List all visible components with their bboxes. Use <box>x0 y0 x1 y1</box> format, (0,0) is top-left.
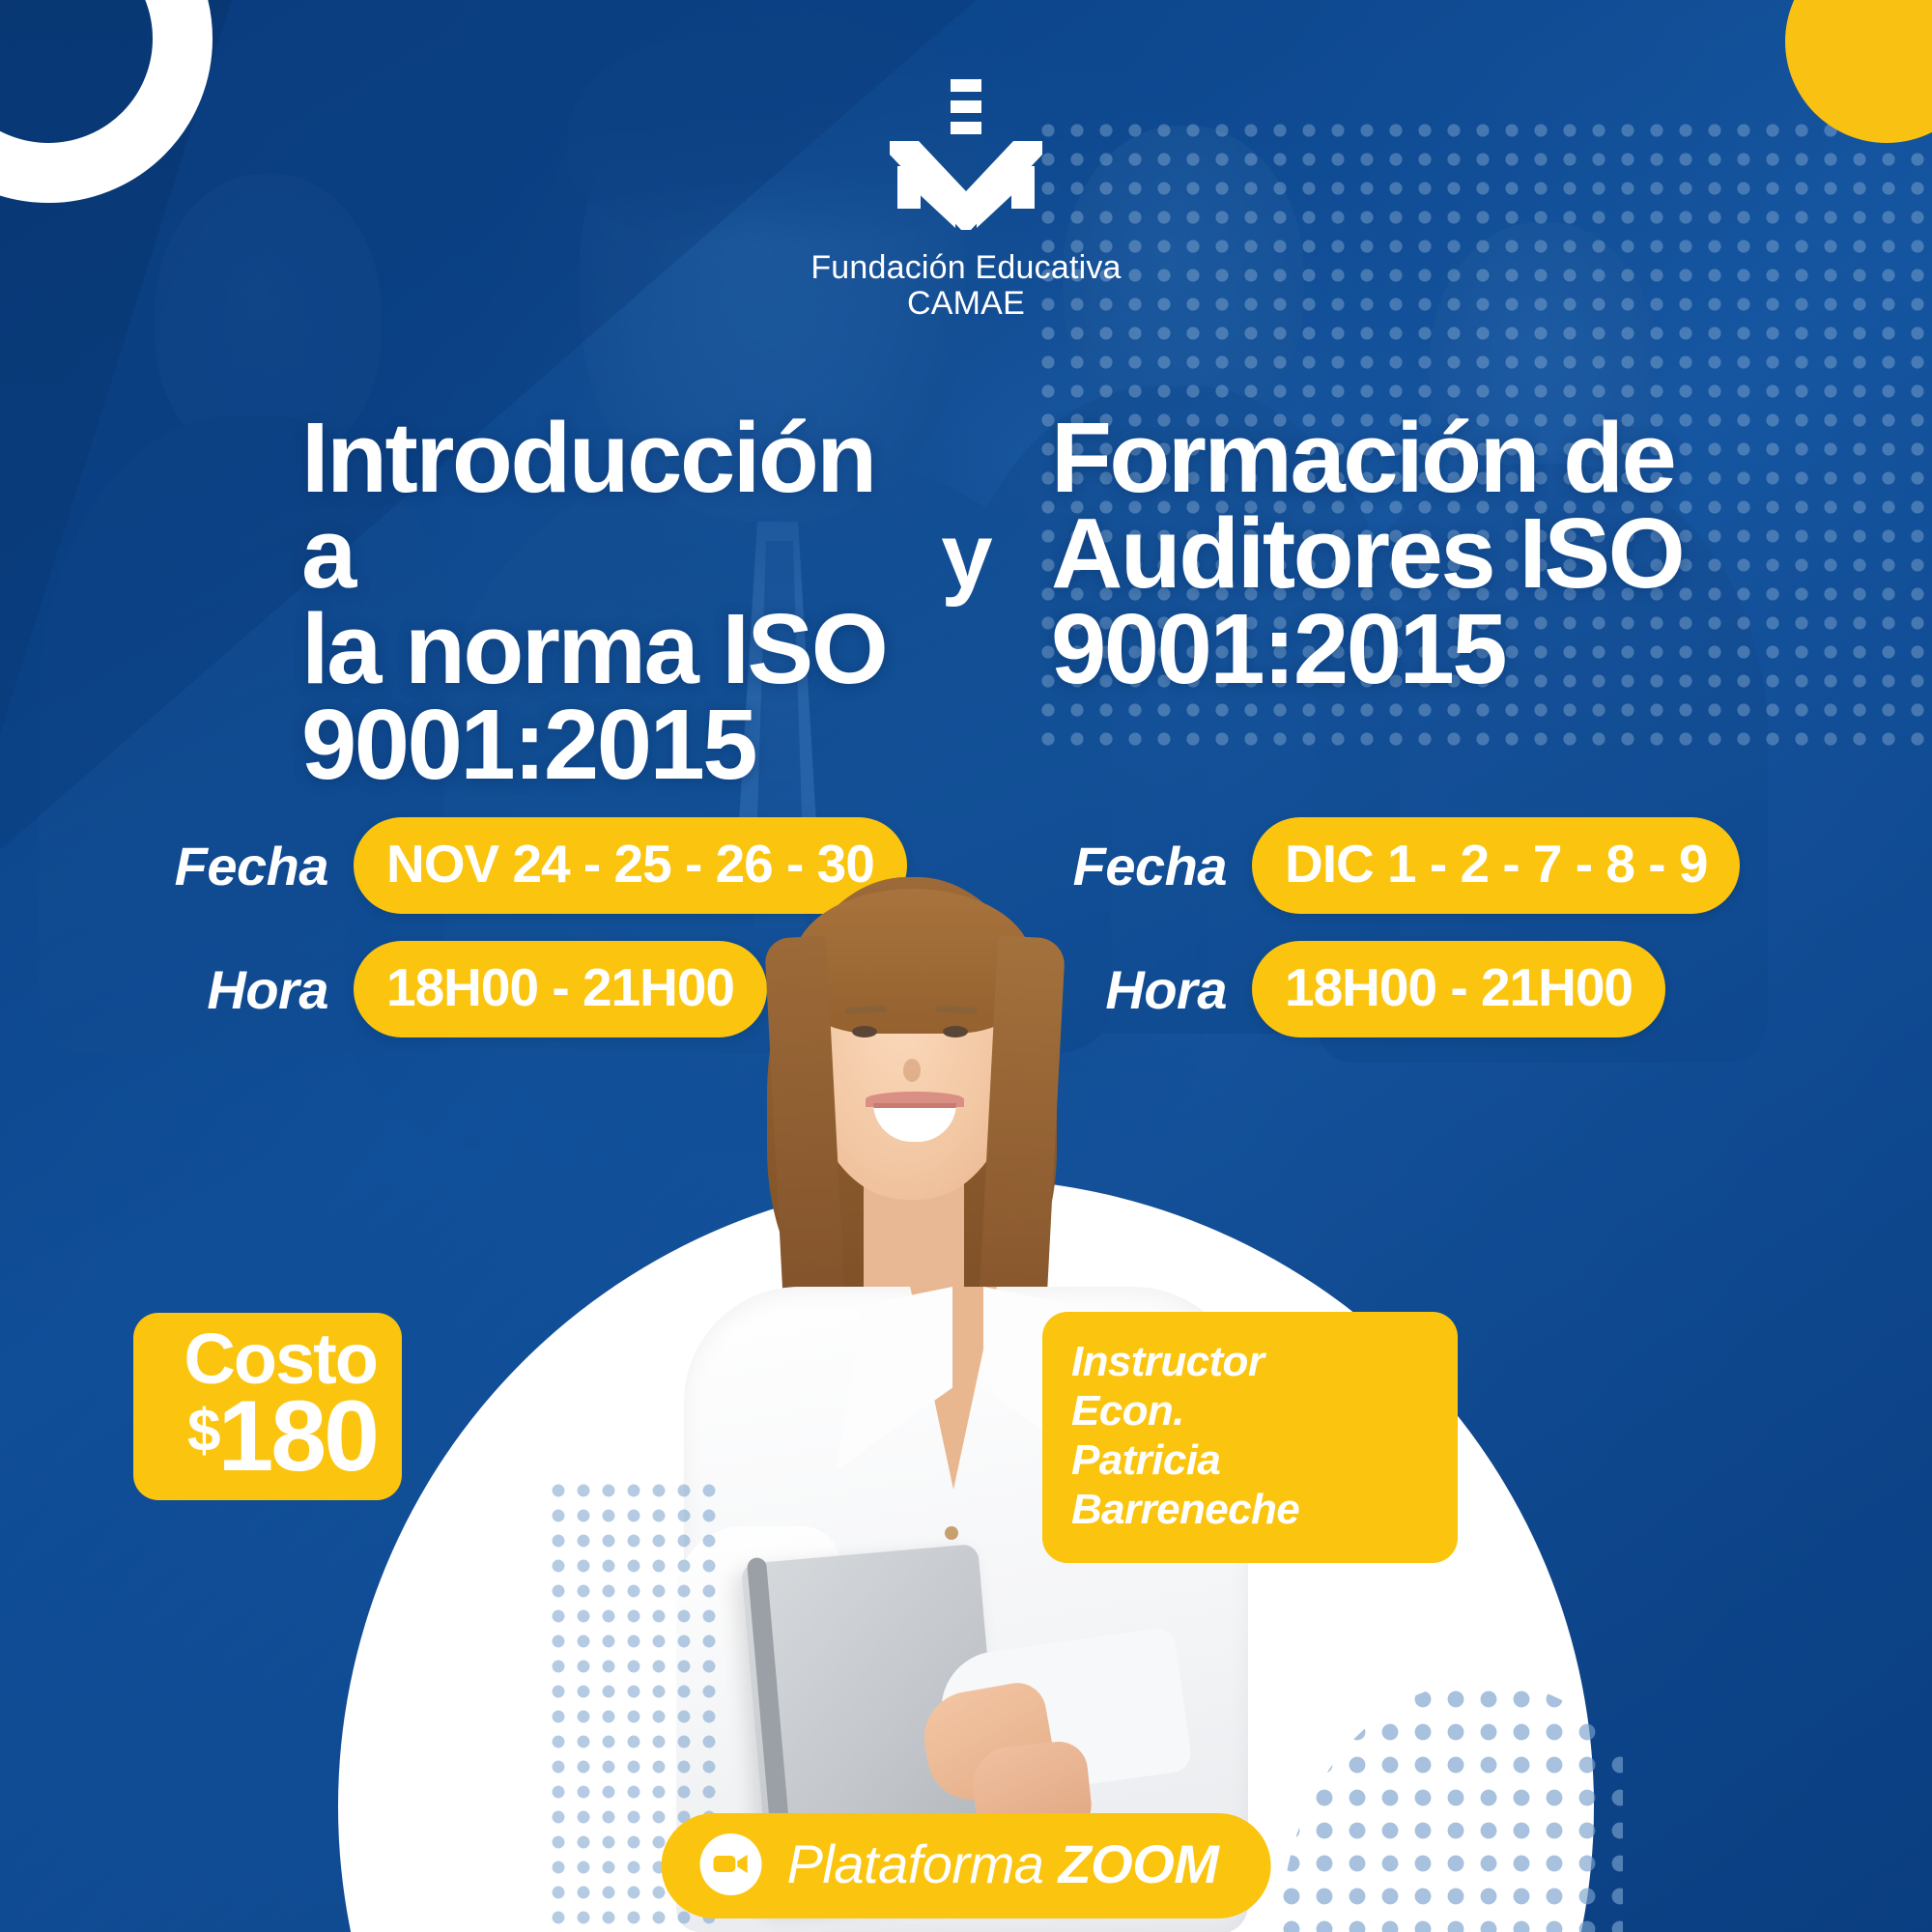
course-column-1: Introducción a la norma ISO 9001:2015 <box>156 411 920 793</box>
course-1-time-label: Hora <box>145 958 328 1021</box>
instructor-title: Econ. <box>1071 1386 1429 1435</box>
course-2-date-badge: DIC 1 - 2 - 7 - 8 - 9 <box>1252 817 1740 914</box>
course-column-2: Formación de Auditores ISO 9001:2015 <box>1012 411 1776 697</box>
course-titles-row: Introducción a la norma ISO 9001:2015 y … <box>0 411 1932 793</box>
platform-zoom-badge[interactable]: Plataforma ZOOM <box>662 1813 1271 1918</box>
instructor-heading: Instructor <box>1071 1337 1429 1386</box>
presenter-nose <box>903 1059 921 1082</box>
course-1-title-line-1: Introducción a <box>301 411 920 602</box>
cost-amount: $180 <box>158 1392 377 1483</box>
course-2-title-line-3: 9001:2015 <box>1051 602 1776 697</box>
course-1-title-line-3: 9001:2015 <box>301 697 920 793</box>
course-2-title-line-1: Formación de <box>1051 411 1776 506</box>
cost-amount-value: 180 <box>217 1392 377 1483</box>
platform-zoom-label: Plataforma ZOOM <box>787 1833 1219 1895</box>
instructor-badge: Instructor Econ. Patricia Barreneche <box>1042 1312 1458 1563</box>
promo-poster: Fundación Educativa CAMAE Introducción a… <box>0 0 1932 1932</box>
conjunction-y: y <box>920 503 1012 610</box>
presenter-button-1 <box>945 1526 958 1540</box>
brand-logo-line2: CAMAE <box>810 286 1121 322</box>
instructor-name: Patricia Barreneche <box>1071 1435 1429 1534</box>
platform-prefix: Plataforma <box>787 1833 1044 1894</box>
course-1-title-line-2: la norma ISO <box>301 602 920 697</box>
video-camera-icon <box>700 1833 762 1895</box>
course-1-date-label: Fecha <box>145 835 328 897</box>
cost-currency-symbol: $ <box>187 1402 217 1462</box>
cost-badge: Costo $180 <box>133 1313 402 1500</box>
brand-logo-text: Fundación Educativa CAMAE <box>810 250 1121 321</box>
course-2-time-badge: 18H00 - 21H00 <box>1252 941 1665 1037</box>
presenter-eye-left <box>852 1026 877 1037</box>
course-2-title-line-2: Auditores ISO <box>1051 506 1776 602</box>
course-1-title: Introducción a la norma ISO 9001:2015 <box>301 411 920 793</box>
course-2-title: Formación de Auditores ISO 9001:2015 <box>1051 411 1776 697</box>
platform-name: ZOOM <box>1058 1833 1218 1894</box>
brand-logo-line1: Fundación Educativa <box>810 250 1121 286</box>
camae-monogram-icon <box>884 77 1048 237</box>
presenter-eye-right <box>943 1026 968 1037</box>
brand-logo: Fundación Educativa CAMAE <box>0 77 1932 321</box>
